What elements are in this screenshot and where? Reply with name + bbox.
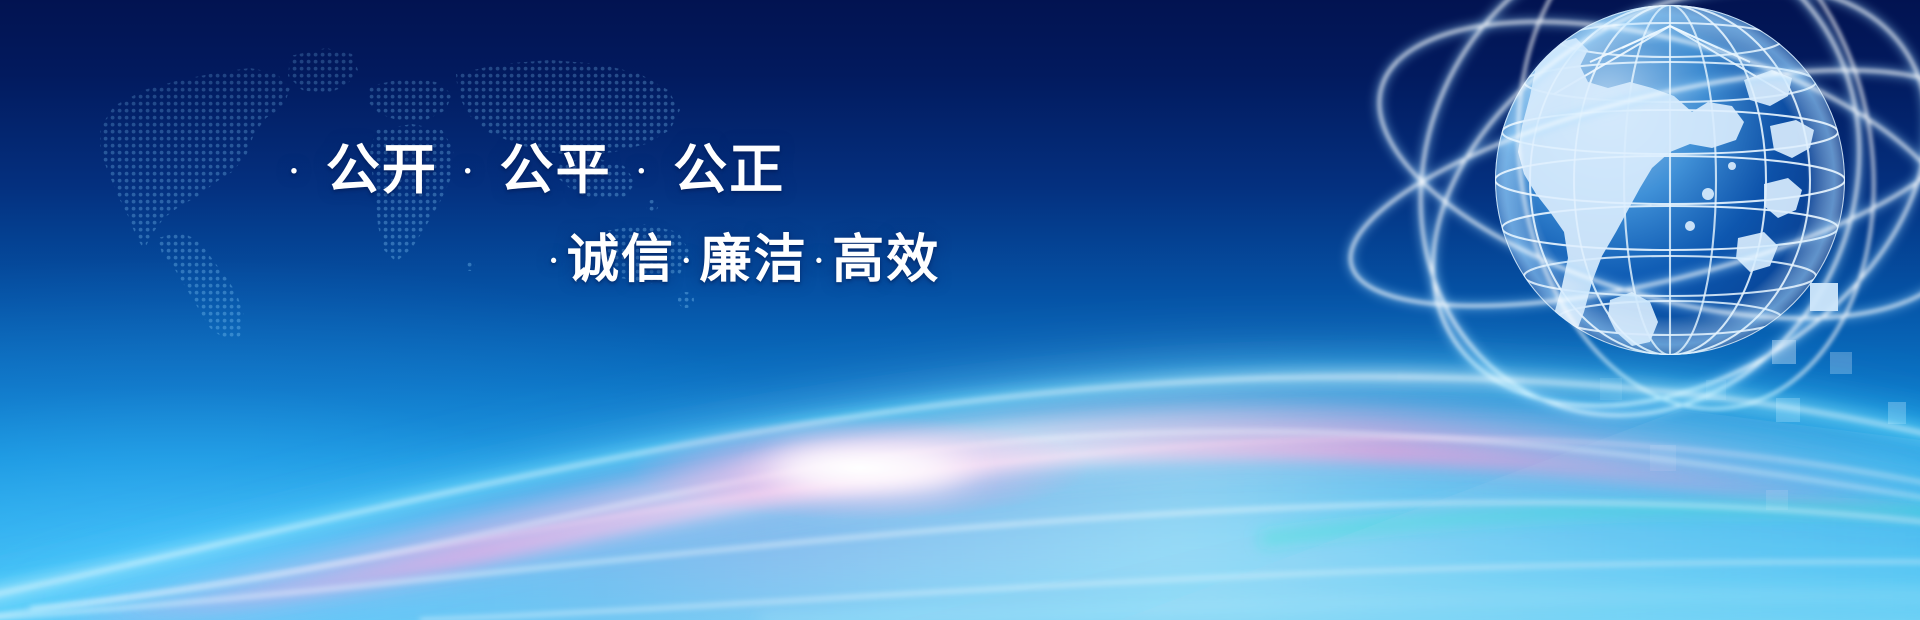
slogan-1-sep-0: · [285,153,305,190]
slogan-2-sep-1: · [678,242,697,278]
globe-wireframe-icon [1340,0,1920,490]
pixel-squares-icon [0,0,1920,620]
light-ribbon-icon [0,290,1920,620]
orbit-rings-icon [1329,0,1920,492]
slogan-2-sep-0: · [545,242,564,278]
banner-root: ·公开·公平·公正 ·诚信·廉洁·高效 [0,0,1920,620]
slogan-1-word-1: 公平 [497,140,615,200]
slogan-2-word-0: 诚信 [564,232,677,289]
left-glow [0,260,900,620]
slogan-2-sep-2: · [810,242,829,278]
slogan-2-word-2: 高效 [830,232,943,289]
slogan-1-word-0: 公开 [323,140,441,200]
slogan-line-2: ·诚信·廉洁·高效 [545,235,943,287]
slogan-line-1: ·公开·公平·公正 [285,143,788,197]
slogan-1-sep-1: · [459,153,479,190]
slogan-1-sep-2: · [632,153,652,190]
slogan-2-word-1: 廉洁 [697,232,810,289]
slogan-1-word-2: 公正 [670,140,788,200]
